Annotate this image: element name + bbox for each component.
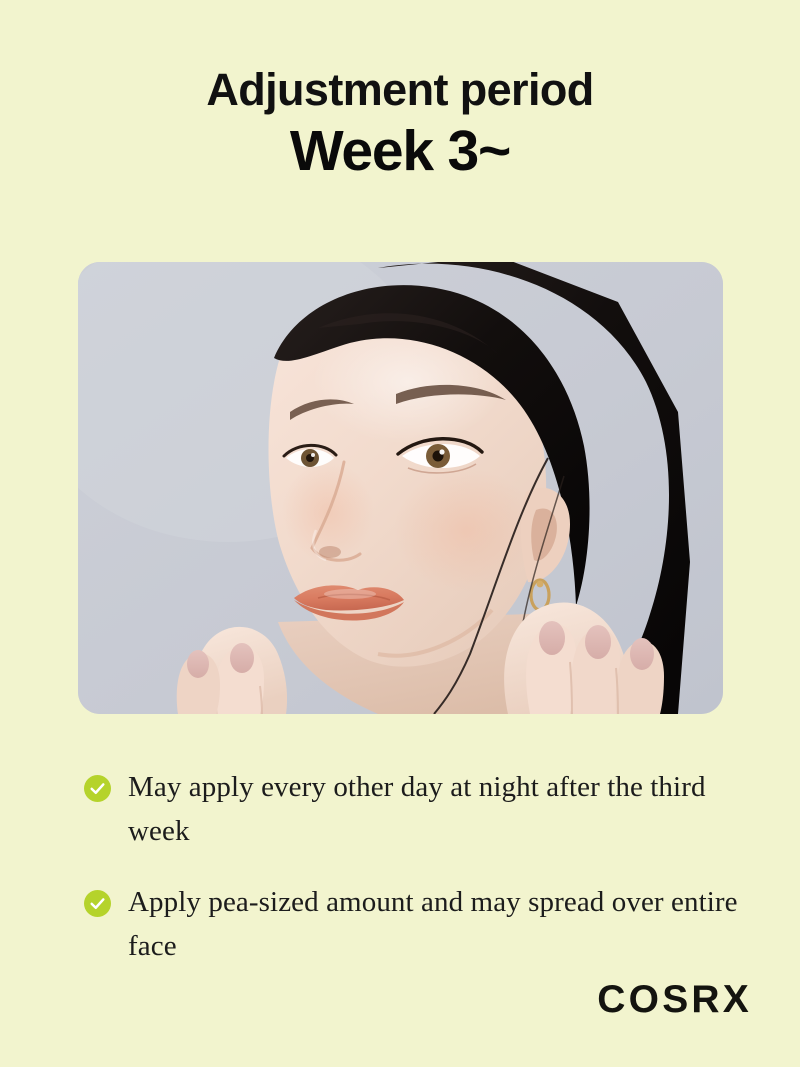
model-photo (78, 262, 723, 714)
instruction-list: May apply every other day at night after… (84, 766, 744, 996)
page-title: Adjustment period (0, 66, 800, 114)
brand-logo: COSRX (597, 978, 752, 1022)
list-item: May apply every other day at night after… (84, 766, 744, 853)
infographic-page: Adjustment period Week 3~ (0, 0, 800, 1067)
check-circle-icon (84, 890, 111, 917)
model-photo-illustration (78, 262, 723, 714)
heading-block: Adjustment period Week 3~ (0, 66, 800, 182)
check-circle-icon (84, 775, 111, 802)
list-item: Apply pea-sized amount and may spread ov… (84, 881, 744, 968)
list-item-label: Apply pea-sized amount and may spread ov… (128, 881, 744, 968)
list-item-label: May apply every other day at night after… (128, 766, 744, 853)
page-subtitle: Week 3~ (0, 120, 800, 183)
